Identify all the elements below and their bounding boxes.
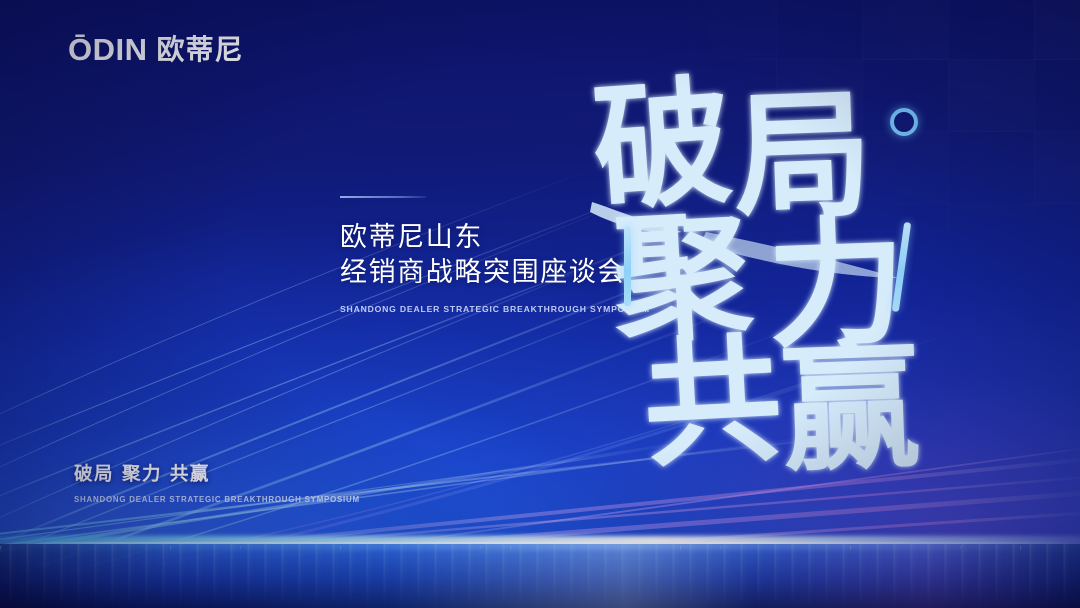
vignette-overlay — [0, 0, 1080, 608]
event-backdrop: ŌDIN 欧蒂尼 欧蒂尼山东 经销商战略突围座谈会 SHANDONG DEALE… — [0, 0, 1080, 608]
